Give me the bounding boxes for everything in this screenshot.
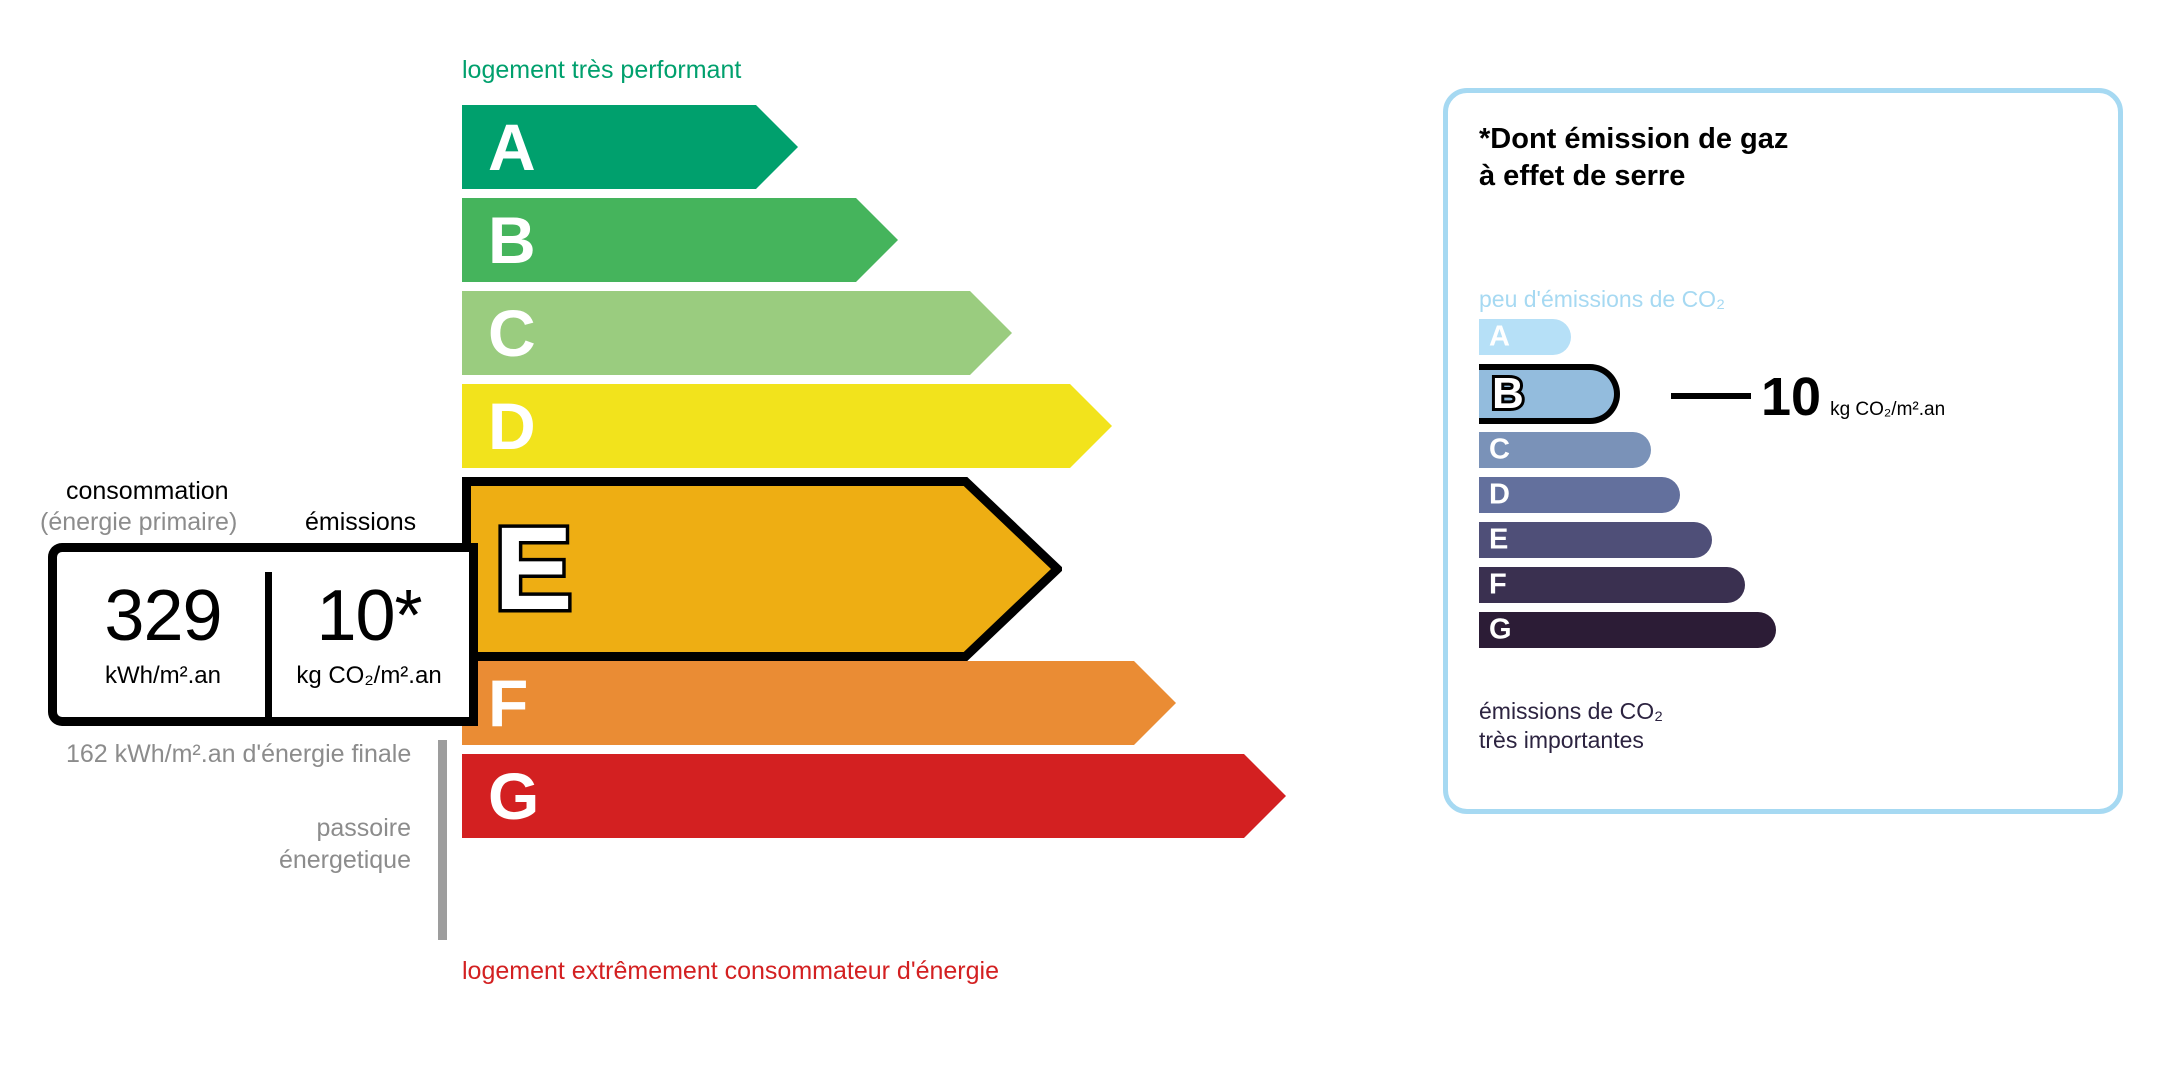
emissions-header: émissions [305, 508, 416, 537]
energy-class-letter-e: E [494, 510, 572, 628]
co2-class-row-d[interactable]: D [1479, 477, 2099, 513]
co2-class-letter-f: F [1489, 571, 1507, 600]
energy-arrow-a: A [462, 105, 798, 189]
consumption-header: consommation [66, 477, 229, 506]
co2-value: 10 [1761, 370, 1821, 424]
co2-class-row-e[interactable]: E [1479, 522, 2099, 558]
energy-class-letter-c: C [488, 300, 535, 366]
energy-arrow-d: D [462, 384, 1112, 468]
energy-arrow-shape-d [462, 384, 1112, 468]
co2-class-letter-d: D [1489, 481, 1510, 510]
energy-arrow-stack: ABCDEFG [462, 105, 1262, 847]
consumption-subheader: (énergie primaire) [40, 508, 237, 537]
energy-class-letter-g: G [488, 763, 538, 829]
co2-bottom-label: émissions de CO₂ très importantes [1479, 697, 1663, 755]
energy-arrow-shape-f [462, 661, 1176, 745]
co2-bar-g [1479, 612, 1776, 648]
co2-class-row-f[interactable]: F [1479, 567, 2099, 603]
passoire-marker-bar [438, 740, 447, 940]
energy-class-row-b[interactable]: B [462, 198, 1262, 282]
co2-panel: *Dont émission de gaz à effet de serre p… [1443, 88, 2123, 814]
consumption-unit: kWh/m².an [105, 662, 221, 690]
energy-arrow-shape-c [462, 291, 1012, 375]
energy-class-row-f[interactable]: F [462, 661, 1262, 745]
energy-class-row-d[interactable]: D [462, 384, 1262, 468]
co2-class-letter-b: B [1492, 372, 1524, 416]
emissions-unit: kg CO₂/m².an [296, 662, 441, 690]
energy-scale-panel: logement très performant ABCDEFG consomm… [0, 0, 1400, 1079]
energy-arrow-e: E [462, 477, 1062, 661]
energy-class-letter-a: A [488, 114, 535, 180]
energy-arrow-f: F [462, 661, 1176, 745]
co2-class-letter-g: G [1489, 616, 1512, 645]
co2-bar-e [1479, 522, 1712, 558]
consumption-cell: 329 kWh/m².an [57, 552, 269, 717]
energy-arrow-b: B [462, 198, 898, 282]
co2-class-row-b[interactable]: B10kg CO₂/m².an [1479, 364, 2099, 424]
co2-bar-stack: AB10kg CO₂/m².anCDEFG [1479, 319, 2099, 657]
energy-class-letter-f: F [488, 670, 527, 736]
energy-class-row-a[interactable]: A [462, 105, 1262, 189]
passoire-energetique-label: passoire énergetique [206, 812, 411, 876]
co2-top-label: peu d'émissions de CO₂ [1479, 286, 1725, 313]
energy-class-row-e[interactable]: E [462, 477, 1262, 661]
energy-arrow-shape-g [462, 754, 1286, 838]
co2-class-letter-e: E [1489, 526, 1508, 555]
co2-class-row-a[interactable]: A [1479, 319, 2099, 355]
energy-arrow-c: C [462, 291, 1012, 375]
emissions-cell: 10* kg CO₂/m².an [277, 552, 461, 717]
scale-bottom-label: logement extrêmement consommateur d'éner… [462, 957, 999, 986]
co2-bar-f [1479, 567, 1745, 603]
energy-class-letter-d: D [488, 393, 535, 459]
dpe-energy-label: logement très performant ABCDEFG consomm… [0, 0, 2170, 1079]
co2-leader-line [1671, 393, 1751, 399]
emissions-value: 10* [316, 580, 421, 652]
scale-top-label: logement très performant [462, 56, 741, 85]
energy-class-letter-b: B [488, 207, 535, 273]
result-box: 329 kWh/m².an 10* kg CO₂/m².an [48, 543, 469, 726]
co2-panel-title: *Dont émission de gaz à effet de serre [1479, 121, 1788, 194]
energy-class-row-g[interactable]: G [462, 754, 1262, 838]
co2-class-row-g[interactable]: G [1479, 612, 2099, 648]
co2-class-letter-c: C [1489, 436, 1510, 465]
co2-class-row-c[interactable]: C [1479, 432, 2099, 468]
co2-value-unit: kg CO₂/m².an [1830, 399, 1945, 421]
consumption-value: 329 [104, 580, 221, 652]
co2-class-letter-a: A [1489, 323, 1510, 352]
final-energy-note: 162 kWh/m².an d'énergie finale [66, 738, 411, 770]
result-divider [265, 572, 272, 717]
co2-value-group: 10kg CO₂/m².an [1761, 370, 1945, 424]
energy-arrow-g: G [462, 754, 1286, 838]
energy-class-row-c[interactable]: C [462, 291, 1262, 375]
